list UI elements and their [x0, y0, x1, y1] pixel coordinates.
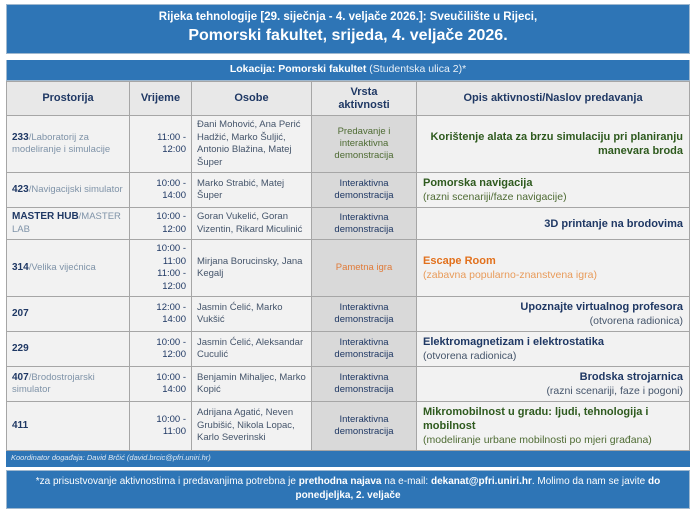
activity-title: Escape Room	[423, 254, 683, 268]
room-number: 407	[12, 372, 29, 383]
activity-title: Mikromobilnost u gradu: ljudi, tehnologi…	[423, 405, 683, 433]
cell-room: 423/Navigacijski simulator	[7, 173, 130, 208]
location-bar: Lokacija: Pomorski fakultet (Studentska …	[6, 60, 690, 81]
room-number: 423	[12, 184, 29, 195]
table-body: 233/Laboratorij za modeliranje i simulac…	[7, 116, 690, 451]
cell-activity-type: Predavanje i interaktivna demonstracija	[312, 116, 417, 173]
cell-activity-type: Pametna igra	[312, 240, 417, 297]
cell-room: 229	[7, 332, 130, 367]
cell-activity-type: Interaktivna demonstracija	[312, 208, 417, 240]
footer-email[interactable]: dekanat@pfri.uniri.hr	[431, 476, 532, 487]
cell-description: Korištenje alata za brzu simulaciju pri …	[417, 116, 690, 173]
coordinator-strip: Koordinator događaja: David Brčić (david…	[6, 451, 690, 467]
room-number: 411	[12, 420, 28, 431]
table-row: 314/Velika vijećnica10:00 - 11:00 11:00 …	[7, 240, 690, 297]
table-row: 423/Navigacijski simulator10:00 - 14:00M…	[7, 173, 690, 208]
cell-room: MASTER HUB/MASTER LAB	[7, 208, 130, 240]
cell-time: 12:00 - 14:00	[130, 297, 192, 332]
footer-text-2: na e-mail:	[382, 476, 431, 487]
cell-people: Jasmin Ćelić, Marko Vukšić	[192, 297, 312, 332]
location-label: Lokacija: Pomorski fakultet	[230, 63, 367, 75]
cell-time: 10:00 - 14:00	[130, 367, 192, 402]
poster-root: Rijeka tehnologije [29. siječnja - 4. ve…	[0, 0, 696, 448]
room-number: 233	[12, 132, 29, 143]
event-title-line1: Rijeka tehnologije [29. siječnja - 4. ve…	[11, 10, 685, 25]
column-header-time: Vrijeme	[130, 82, 192, 116]
cell-people: Benjamin Mihaljec, Marko Kopić	[192, 367, 312, 402]
cell-people: Adrijana Agatić, Neven Grubišić, Nikola …	[192, 402, 312, 451]
table-row: 233/Laboratorij za modeliranje i simulac…	[7, 116, 690, 173]
activity-subtitle: (otvorena radionica)	[423, 349, 683, 363]
footer-text-3: . Molimo da nam se javite	[532, 476, 648, 487]
cell-description: 3D printanje na brodovima	[417, 208, 690, 240]
cell-people: Mirjana Borucinsky, Jana Kegalj	[192, 240, 312, 297]
cell-activity-type: Interaktivna demonstracija	[312, 297, 417, 332]
room-number: MASTER HUB	[12, 211, 79, 222]
footer-bold-notice: prethodna najava	[299, 476, 382, 487]
cell-time: 10:00 - 12:00	[130, 332, 192, 367]
table-row: 20712:00 - 14:00Jasmin Ćelić, Marko Vukš…	[7, 297, 690, 332]
table-row: MASTER HUB/MASTER LAB10:00 - 12:00Goran …	[7, 208, 690, 240]
activity-title: Brodska strojarnica	[423, 370, 683, 384]
room-number: 314	[12, 262, 29, 273]
activity-title: 3D printanje na brodovima	[423, 217, 683, 231]
cell-room: 207	[7, 297, 130, 332]
column-header-room: Prostorija	[7, 82, 130, 116]
cell-activity-type: Interaktivna demonstracija	[312, 402, 417, 451]
footer-text-1: *za prisustvovanje aktivnostima i predav…	[36, 476, 299, 487]
title-banner: Rijeka tehnologije [29. siječnja - 4. ve…	[6, 4, 690, 54]
cell-description: Upoznajte virtualnog profesora(otvorena …	[417, 297, 690, 332]
cell-description: Mikromobilnost u gradu: ljudi, tehnologi…	[417, 402, 690, 451]
column-header-type-line1: Vrsta	[351, 86, 378, 98]
cell-time: 11:00 - 12:00	[130, 116, 192, 173]
cell-description: Brodska strojarnica(razni scenariji, faz…	[417, 367, 690, 402]
cell-activity-type: Interaktivna demonstracija	[312, 332, 417, 367]
cell-people: Marko Strabić, Matej Šuper	[192, 173, 312, 208]
activity-subtitle: (razni scenariji, faze i pogoni)	[423, 384, 683, 398]
table-row: 407/Brodostrojarski simulator10:00 - 14:…	[7, 367, 690, 402]
event-title-line2: Pomorski fakultet, srijeda, 4. veljače 2…	[11, 26, 685, 46]
room-name: /Velika vijećnica	[29, 262, 96, 273]
cell-room: 233/Laboratorij za modeliranje i simulac…	[7, 116, 130, 173]
cell-people: Goran Vukelić, Goran Vizentin, Rikard Mi…	[192, 208, 312, 240]
room-name: /Navigacijski simulator	[29, 184, 123, 195]
cell-room: 411	[7, 402, 130, 451]
activity-subtitle: (razni scenariji/faze navigacije)	[423, 190, 683, 204]
column-header-type: Vrsta aktivnosti	[312, 82, 417, 116]
table-row: 41110:00 - 11:00Adrijana Agatić, Neven G…	[7, 402, 690, 451]
activity-title: Pomorska navigacija	[423, 176, 683, 190]
cell-time: 10:00 - 14:00	[130, 173, 192, 208]
cell-room: 314/Velika vijećnica	[7, 240, 130, 297]
activity-title: Upoznajte virtualnog profesora	[423, 300, 683, 314]
footer-note: *za prisustvovanje aktivnostima i predav…	[6, 470, 690, 509]
cell-people: Jasmin Ćelić, Aleksandar Cuculić	[192, 332, 312, 367]
table-row: 22910:00 - 12:00Jasmin Ćelić, Aleksandar…	[7, 332, 690, 367]
schedule-table: Prostorija Vrijeme Osobe Vrsta aktivnost…	[6, 81, 690, 451]
location-address: (Studentska ulica 2)*	[366, 63, 466, 75]
column-header-description: Opis aktivnosti/Naslov predavanja	[417, 82, 690, 116]
cell-description: Pomorska navigacija(razni scenariji/faze…	[417, 173, 690, 208]
room-number: 229	[12, 343, 29, 354]
column-header-people: Osobe	[192, 82, 312, 116]
table-header-row: Prostorija Vrijeme Osobe Vrsta aktivnost…	[7, 82, 690, 116]
cell-time: 10:00 - 12:00	[130, 208, 192, 240]
column-header-type-line2: aktivnosti	[338, 99, 389, 111]
cell-people: Đani Mohović, Ana Perić Hadžić, Marko Šu…	[192, 116, 312, 173]
activity-subtitle: (modeliranje urbane mobilnosti po mjeri …	[423, 433, 683, 447]
room-number: 207	[12, 308, 29, 319]
cell-activity-type: Interaktivna demonstracija	[312, 173, 417, 208]
activity-subtitle: (otvorena radionica)	[423, 314, 683, 328]
activity-title: Korištenje alata za brzu simulaciju pri …	[423, 130, 683, 158]
cell-description: Elektromagnetizam i elektrostatika(otvor…	[417, 332, 690, 367]
cell-description: Escape Room(zabavna popularno-znanstvena…	[417, 240, 690, 297]
activity-title: Elektromagnetizam i elektrostatika	[423, 335, 683, 349]
table-head: Prostorija Vrijeme Osobe Vrsta aktivnost…	[7, 82, 690, 116]
cell-time: 10:00 - 11:00 11:00 - 12:00	[130, 240, 192, 297]
activity-subtitle: (zabavna popularno-znanstvena igra)	[423, 268, 683, 282]
cell-room: 407/Brodostrojarski simulator	[7, 367, 130, 402]
cell-time: 10:00 - 11:00	[130, 402, 192, 451]
cell-activity-type: Interaktivna demonstracija	[312, 367, 417, 402]
